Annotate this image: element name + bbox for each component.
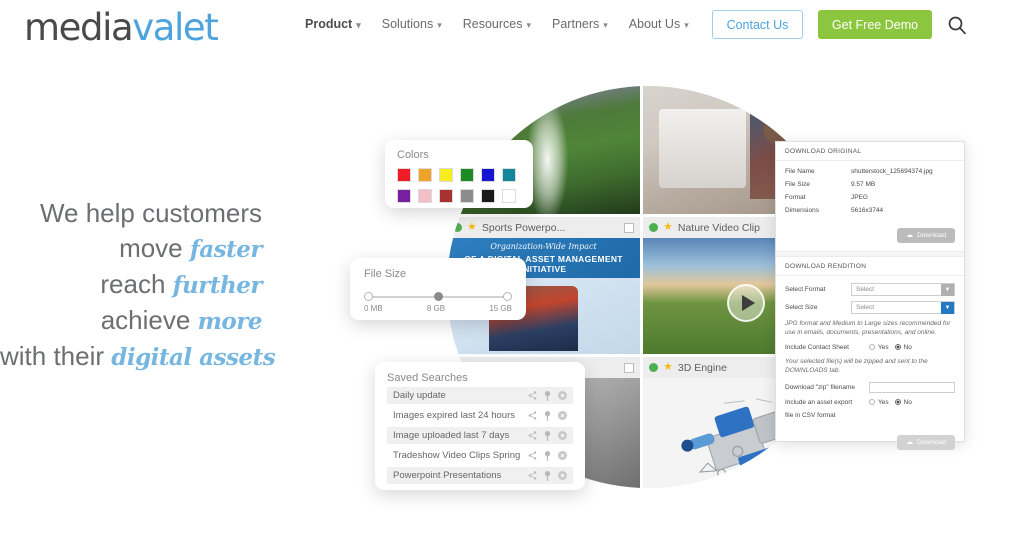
nav-item-partners[interactable]: Partners ▾ [552, 14, 619, 34]
share-icon[interactable] [528, 451, 537, 460]
pin-icon[interactable] [544, 451, 551, 461]
download-rendition-body: Select Format Select ▼ Select Size Selec… [776, 276, 964, 425]
saved-search-row[interactable]: Image uploaded last 7 days [387, 427, 573, 444]
file-size-card-title: File Size [364, 268, 512, 280]
close-icon[interactable] [558, 391, 567, 400]
chevron-down-icon[interactable]: ▼ [941, 302, 954, 314]
file-size-filter-card: File Size 0 MB 8 GB 15 GB [350, 258, 526, 320]
saved-searches-card: Saved Searches Daily update Images expir… [375, 362, 585, 490]
saved-search-row[interactable]: Daily update [387, 387, 573, 404]
zip-filename-row: Download "zip" filename [785, 382, 955, 393]
color-swatch-purple[interactable] [397, 189, 411, 203]
csv-export-yes-label: Yes [878, 399, 889, 406]
format-label: Format [785, 194, 851, 201]
pin-icon[interactable] [544, 411, 551, 421]
zip-filename-label: Download "zip" filename [785, 384, 863, 391]
color-swatch-white[interactable] [502, 189, 516, 203]
slider-label-min: 0 MB [364, 304, 383, 313]
color-swatch-green[interactable] [460, 168, 474, 182]
contact-sheet-no-label: No [904, 344, 912, 351]
hero-line-5-script: digital assets [111, 344, 275, 371]
slider-handle-mid[interactable] [434, 292, 443, 301]
format-row: Format JPEG [785, 194, 955, 201]
download-rendition-button-wrap: ☁ Download [776, 425, 964, 458]
select-size-value: Select [852, 304, 874, 311]
csv-export-row: Include an asset export Yes No [785, 399, 955, 406]
hero-tagline: We help customers move faster reach furt… [0, 196, 262, 375]
pin-icon[interactable] [544, 391, 551, 401]
tile-title: Sports Powerpo... [482, 222, 565, 234]
hero-line-3-script: further [173, 272, 262, 299]
download-original-body: File Name shutterstock_125694374.jpg Fil… [776, 161, 964, 226]
tile-header: ★ Sports Powerpo... [447, 217, 640, 238]
download-rendition-button-label: Download [917, 439, 946, 446]
mediavalet-logo[interactable]: mediavalet [24, 8, 217, 48]
file-name-row: File Name shutterstock_125694374.jpg [785, 168, 955, 175]
get-free-demo-button[interactable]: Get Free Demo [818, 10, 932, 39]
colors-card-title: Colors [397, 149, 521, 161]
hero-line-4: achieve more [0, 303, 262, 339]
dimensions-row: Dimensions 5616x3744 [785, 207, 955, 214]
slider-label-max: 15 GB [489, 304, 512, 313]
hero-line-5: with their digital assets [0, 339, 262, 375]
tile-checkbox[interactable] [624, 223, 634, 233]
chevron-down-icon: ▾ [603, 21, 608, 30]
star-icon[interactable]: ★ [663, 362, 673, 373]
dimensions-value: 5616x3744 [851, 207, 883, 214]
chevron-down-icon: ▾ [526, 21, 531, 30]
chevron-down-icon: ▾ [684, 21, 689, 30]
play-triangle [742, 295, 755, 311]
share-icon[interactable] [528, 391, 537, 400]
saved-search-row[interactable]: Tradeshow Video Clips Spring 2018 [387, 447, 573, 464]
saved-search-actions [528, 431, 567, 441]
zip-filename-input[interactable] [869, 382, 955, 393]
star-icon[interactable]: ★ [467, 222, 477, 233]
nav-item-product[interactable]: Product ▾ [305, 14, 372, 34]
play-button-icon[interactable] [727, 284, 765, 322]
csv-export-yes-option[interactable]: Yes [869, 399, 889, 406]
select-size-row: Select Size Select ▼ [785, 301, 955, 314]
nav-label-partners: Partners [552, 17, 599, 31]
cloud-download-icon: ☁ [906, 439, 913, 446]
nav-item-solutions[interactable]: Solutions ▾ [382, 14, 453, 34]
select-size-label: Select Size [785, 304, 851, 311]
hero-line-4-script: more [198, 308, 262, 335]
rendition-note-2: Your selected file(s) will be zipped and… [785, 357, 955, 376]
contact-sheet-no-option[interactable]: No [895, 344, 912, 351]
saved-search-label: Tradeshow Video Clips Spring 2018 [393, 450, 522, 461]
saved-search-actions [528, 391, 567, 401]
saved-search-actions [528, 471, 567, 481]
rendition-note-1: JPG format and Medium to Large sizes rec… [785, 319, 955, 338]
csv-export-no-label: No [904, 399, 912, 406]
hero-line-5-plain: with their [0, 341, 111, 371]
hero-line-2: move faster [0, 231, 262, 267]
nav-label-product: Product [305, 17, 352, 31]
radio-circle [869, 344, 875, 350]
cloud-download-icon: ☁ [906, 232, 913, 239]
slider-handle-max[interactable] [503, 292, 512, 301]
radio-circle-selected [895, 344, 901, 350]
colors-filter-card: Colors [385, 140, 533, 208]
color-swatch-black[interactable] [481, 189, 495, 203]
hero-line-3-plain: reach [100, 269, 172, 299]
tile-checkbox[interactable] [624, 363, 634, 373]
green-dot-icon [649, 223, 658, 232]
hero-line-4-plain: achieve [101, 305, 198, 335]
nav-item-about-us[interactable]: About Us ▾ [629, 14, 700, 34]
format-value: JPEG [851, 194, 868, 201]
file-size-row: File Size 9.57 MB [785, 181, 955, 188]
saved-search-label: Powerpoint Presentations [393, 470, 522, 481]
saved-searches-title: Saved Searches [387, 372, 573, 384]
saved-search-row[interactable]: Images expired last 24 hours [387, 407, 573, 424]
share-icon[interactable] [528, 431, 537, 440]
slider-handle-min[interactable] [364, 292, 373, 301]
color-swatch-yellow[interactable] [439, 168, 453, 182]
saved-search-label: Image uploaded last 7 days [393, 430, 522, 441]
chevron-down-icon: ▾ [356, 21, 361, 30]
color-swatch-orange[interactable] [418, 168, 432, 182]
colors-row-1 [397, 168, 521, 182]
close-icon[interactable] [558, 411, 567, 420]
pin-icon[interactable] [544, 471, 551, 481]
saved-search-row[interactable]: Powerpoint Presentations [387, 467, 573, 484]
share-icon[interactable] [528, 471, 537, 480]
select-format-value: Select [852, 286, 874, 293]
contact-us-button[interactable]: Contact Us [712, 10, 803, 39]
file-name-value: shutterstock_125694374.jpg [851, 168, 933, 175]
color-swatch-blue[interactable] [481, 168, 495, 182]
green-dot-icon [649, 363, 658, 372]
csv-export-label-line2: file in CSV format [785, 412, 955, 419]
radio-circle [869, 399, 875, 405]
select-format-label: Select Format [785, 286, 851, 293]
radio-circle-selected [895, 399, 901, 405]
chevron-down-icon: ▾ [437, 21, 442, 30]
hero-line-2-plain: move [119, 233, 190, 263]
include-contact-sheet-label: Include Contact Sheet [785, 344, 863, 351]
download-panel: DOWNLOAD ORIGINAL File Name shutterstock… [775, 141, 965, 442]
site-header: mediavalet Product ▾ Solutions ▾ Resourc… [0, 0, 1024, 56]
csv-export-no-option[interactable]: No [895, 399, 912, 406]
download-original-button[interactable]: ☁ Download [897, 228, 955, 243]
nav-label-resources: Resources [463, 17, 523, 31]
slide-subtitle: Organization-Wide Impact [447, 242, 640, 251]
file-size-value: 9.57 MB [851, 181, 875, 188]
close-icon[interactable] [558, 431, 567, 440]
file-size-slider[interactable]: 0 MB 8 GB 15 GB [364, 292, 512, 308]
file-name-label: File Name [785, 168, 851, 175]
saved-search-actions [528, 411, 567, 421]
download-original-button-label: Download [917, 232, 946, 239]
color-swatch-gray[interactable] [460, 189, 474, 203]
nav-label-solutions: Solutions [382, 17, 433, 31]
pin-icon[interactable] [544, 431, 551, 441]
color-swatch-teal[interactable] [502, 168, 516, 182]
colors-row-2 [397, 189, 521, 203]
nav-label-about-us: About Us [629, 17, 680, 31]
tile-title: Nature Video Clip [678, 222, 760, 234]
include-contact-sheet-row: Include Contact Sheet Yes No [785, 344, 955, 351]
slider-label-mid: 8 GB [427, 304, 445, 313]
saved-search-label: Daily update [393, 390, 522, 401]
file-size-label: File Size [785, 181, 851, 188]
download-original-button-wrap: ☁ Download [776, 226, 964, 251]
select-size-dropdown[interactable]: Select ▼ [851, 301, 955, 314]
close-icon[interactable] [558, 451, 567, 460]
close-icon[interactable] [558, 471, 567, 480]
hero-line-1: We help customers [0, 196, 262, 231]
color-swatch-pink[interactable] [418, 189, 432, 203]
search-icon[interactable] [947, 15, 967, 35]
logo-text-media: media [24, 6, 132, 49]
slider-tick-labels: 0 MB 8 GB 15 GB [364, 304, 512, 313]
color-swatch-red[interactable] [397, 168, 411, 182]
saved-search-actions [528, 451, 567, 461]
color-swatch-brown[interactable] [439, 189, 453, 203]
select-format-row: Select Format Select ▼ [785, 283, 955, 296]
tile-title: 3D Engine [678, 362, 727, 374]
contact-sheet-yes-label: Yes [878, 344, 889, 351]
contact-sheet-yes-option[interactable]: Yes [869, 344, 889, 351]
share-icon[interactable] [528, 411, 537, 420]
hero-line-3: reach further [0, 267, 262, 303]
download-rendition-title: DOWNLOAD RENDITION [776, 257, 964, 276]
download-rendition-button[interactable]: ☁ Download [897, 435, 955, 450]
nav-item-resources[interactable]: Resources ▾ [463, 14, 542, 34]
dimensions-label: Dimensions [785, 207, 851, 214]
star-icon[interactable]: ★ [663, 222, 673, 233]
download-original-title: DOWNLOAD ORIGINAL [776, 142, 964, 161]
select-format-dropdown[interactable]: Select ▼ [851, 283, 955, 296]
logo-text-valet: valet [132, 6, 217, 49]
saved-search-label: Images expired last 24 hours [393, 410, 522, 421]
hero-line-2-script: faster [190, 236, 262, 263]
chevron-down-icon[interactable]: ▼ [941, 284, 954, 296]
green-dot-icon [453, 223, 462, 232]
csv-export-label: Include an asset export [785, 399, 863, 406]
main-navigation: Product ▾ Solutions ▾ Resources ▾ Partne… [305, 14, 710, 34]
